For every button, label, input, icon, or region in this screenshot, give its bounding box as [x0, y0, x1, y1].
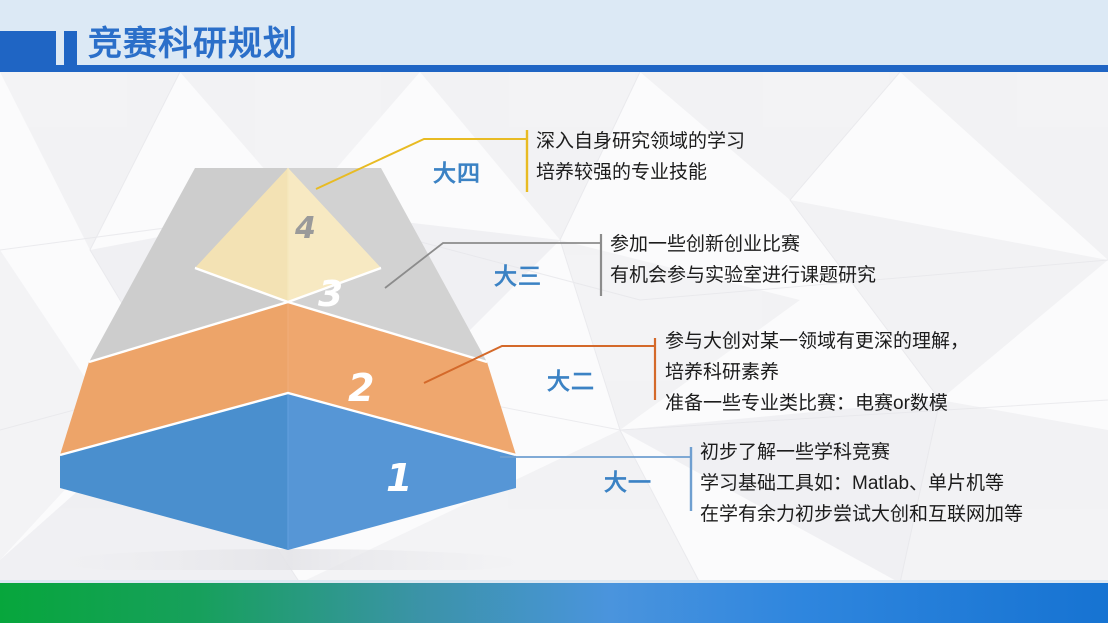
description-senior-line-2: 培养较强的专业技能	[536, 157, 745, 188]
slide-canvas: 竞赛科研规划	[0, 0, 1108, 623]
header-underline-rule	[0, 65, 1108, 72]
description-freshman: 初步了解一些学科竞赛 学习基础工具如：Matlab、单片机等 在学有余力初步尝试…	[700, 437, 1023, 530]
description-junior: 参加一些创新创业比赛 有机会参与实验室进行课题研究	[610, 229, 876, 291]
description-senior-line-1: 深入自身研究领域的学习	[536, 126, 745, 157]
description-sophomore-line-2: 培养科研素养	[665, 357, 969, 388]
year-label-freshman: 大一	[604, 463, 652, 497]
description-freshman-line-1: 初步了解一些学科竞赛	[700, 437, 1023, 468]
year-label-sophomore: 大二	[547, 362, 595, 396]
year-label-senior: 大四	[433, 154, 481, 188]
description-sophomore: 参与大创对某一领域有更深的理解， 培养科研素养 准备一些专业类比赛：电赛or数模	[665, 326, 969, 419]
year-label-junior: 大三	[494, 257, 542, 291]
description-freshman-line-2: 学习基础工具如：Matlab、单片机等	[700, 468, 1023, 499]
description-junior-line-1: 参加一些创新创业比赛	[610, 229, 876, 260]
description-sophomore-line-3: 准备一些专业类比赛：电赛or数模	[665, 388, 969, 419]
description-sophomore-line-1: 参与大创对某一领域有更深的理解，	[665, 326, 969, 357]
description-senior: 深入自身研究领域的学习 培养较强的专业技能	[536, 126, 745, 188]
footer-gradient-bar	[0, 583, 1108, 623]
pyramid-apex-overlay	[40, 150, 560, 570]
page-title: 竞赛科研规划	[88, 22, 298, 66]
description-junior-line-2: 有机会参与实验室进行课题研究	[610, 260, 876, 291]
description-freshman-line-3: 在学有余力初步尝试大创和互联网加等	[700, 499, 1023, 530]
